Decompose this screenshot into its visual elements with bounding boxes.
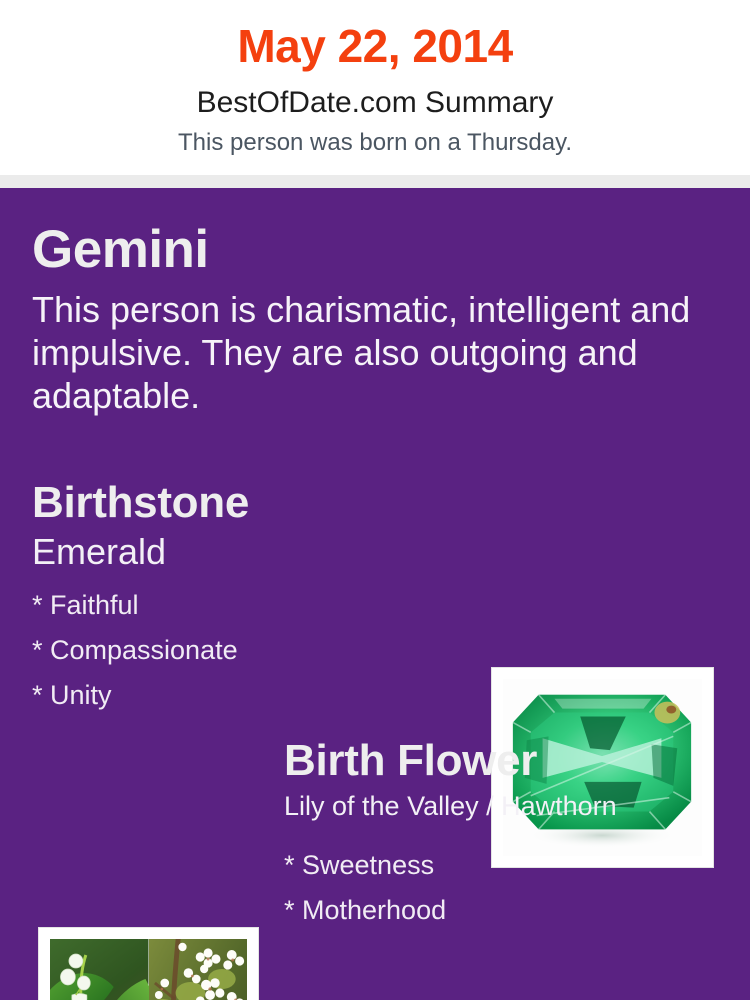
birth-flower-image-frame: [38, 927, 259, 1000]
zodiac-sign-heading: Gemini: [32, 222, 209, 278]
birth-flower-name: Lily of the Valley / Hawthorn: [284, 792, 617, 822]
details-panel: Gemini This person is charismatic, intel…: [0, 188, 750, 1000]
page-title: May 22, 2014: [0, 22, 750, 70]
birthstone-heading: Birthstone: [32, 480, 249, 526]
lily-of-the-valley-and-hawthorn-photo: [50, 939, 247, 1000]
list-item: * Faithful: [32, 583, 238, 628]
hawthorn-icon: [149, 939, 248, 1000]
born-weekday-text: This person was born on a Thursday.: [0, 130, 750, 156]
birthstone-traits-list: * Faithful * Compassionate * Unity: [32, 583, 238, 718]
list-item: * Compassionate: [32, 628, 238, 673]
header-divider: [0, 175, 750, 188]
birth-flower-heading: Birth Flower: [284, 738, 537, 784]
list-item: * Motherhood: [284, 888, 446, 933]
list-item: * Sweetness: [284, 843, 446, 888]
zodiac-description: This person is charismatic, intelligent …: [32, 288, 700, 418]
lily-of-the-valley-icon: [50, 939, 149, 1000]
card-header: May 22, 2014 BestOfDate.com Summary This…: [0, 0, 750, 175]
site-subtitle: BestOfDate.com Summary: [0, 86, 750, 119]
summary-card: May 22, 2014 BestOfDate.com Summary This…: [0, 0, 750, 1000]
birthstone-name: Emerald: [32, 532, 166, 572]
list-item: * Unity: [32, 673, 238, 718]
birth-flower-traits-list: * Sweetness * Motherhood: [284, 843, 446, 933]
